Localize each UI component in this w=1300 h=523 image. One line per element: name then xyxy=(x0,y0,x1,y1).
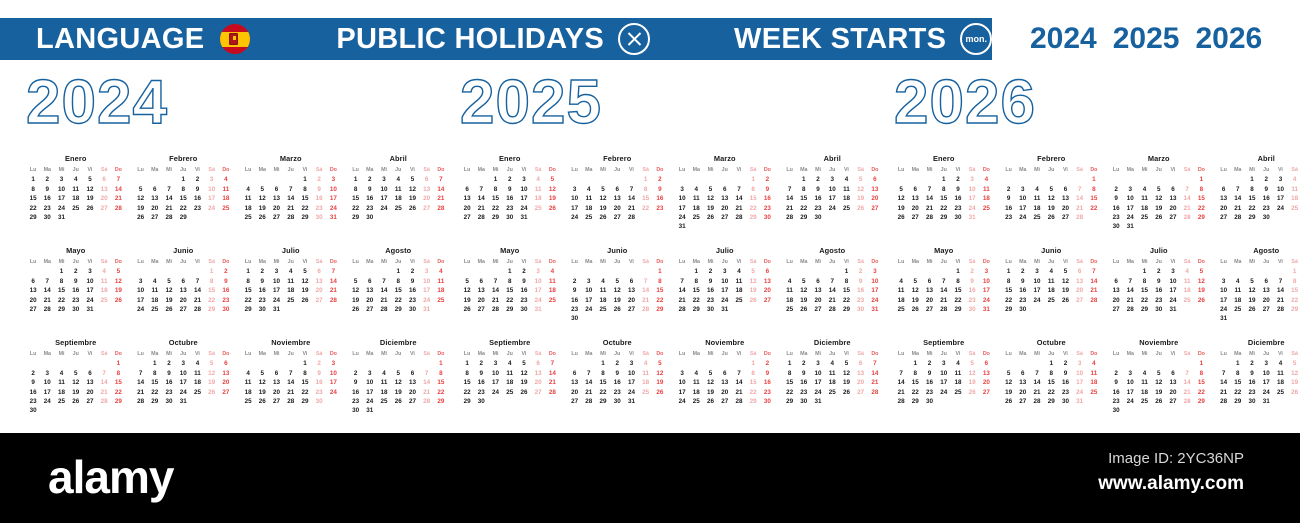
day-cell[interactable]: 11 xyxy=(1180,277,1194,286)
day-cell[interactable]: 4 xyxy=(979,175,993,184)
day-cell[interactable]: 19 xyxy=(1002,388,1016,397)
day-cell[interactable]: 25 xyxy=(689,213,703,222)
day-cell[interactable]: 22 xyxy=(298,204,312,213)
day-cell[interactable]: 2 xyxy=(703,267,717,276)
day-cell[interactable]: 1 xyxy=(349,175,363,184)
day-cell[interactable]: 2 xyxy=(405,267,419,276)
day-cell[interactable]: 18 xyxy=(391,194,405,203)
day-cell[interactable]: 3 xyxy=(868,267,882,276)
day-cell[interactable]: 27 xyxy=(760,296,774,305)
day-cell[interactable]: 29 xyxy=(26,213,40,222)
day-cell[interactable]: 4 xyxy=(639,359,653,368)
day-cell[interactable]: 30 xyxy=(474,397,488,406)
day-cell[interactable]: 8 xyxy=(1002,277,1016,286)
day-cell[interactable]: 20 xyxy=(312,286,326,295)
day-cell[interactable]: 30 xyxy=(1058,397,1072,406)
day-cell[interactable]: 9 xyxy=(1245,369,1259,378)
day-cell[interactable]: 15 xyxy=(241,286,255,295)
day-cell[interactable]: 2 xyxy=(40,175,54,184)
day-cell[interactable]: 14 xyxy=(825,286,839,295)
day-cell[interactable]: 21 xyxy=(97,388,111,397)
day-cell[interactable]: 7 xyxy=(488,277,502,286)
day-cell[interactable]: 20 xyxy=(1259,296,1273,305)
day-cell[interactable]: 19 xyxy=(965,378,979,387)
day-cell[interactable]: 27 xyxy=(568,397,582,406)
day-cell[interactable]: 11 xyxy=(377,378,391,387)
day-cell[interactable]: 27 xyxy=(269,213,283,222)
day-cell[interactable]: 12 xyxy=(517,369,531,378)
day-cell[interactable]: 17 xyxy=(326,378,340,387)
day-cell[interactable]: 7 xyxy=(732,369,746,378)
day-cell[interactable]: 16 xyxy=(1002,204,1016,213)
day-cell[interactable]: 6 xyxy=(405,369,419,378)
day-cell[interactable]: 10 xyxy=(811,369,825,378)
day-cell[interactable]: 23 xyxy=(517,296,531,305)
day-cell[interactable]: 17 xyxy=(269,286,283,295)
day-cell[interactable]: 29 xyxy=(148,397,162,406)
day-cell[interactable]: 1 xyxy=(205,267,219,276)
day-cell[interactable]: 6 xyxy=(624,277,638,286)
day-cell[interactable]: 28 xyxy=(420,397,434,406)
day-cell[interactable]: 5 xyxy=(1288,359,1300,368)
day-cell[interactable]: 30 xyxy=(219,305,233,314)
day-cell[interactable]: 16 xyxy=(349,388,363,397)
day-cell[interactable]: 18 xyxy=(219,194,233,203)
day-cell[interactable]: 12 xyxy=(908,286,922,295)
day-cell[interactable]: 23 xyxy=(653,204,667,213)
day-cell[interactable]: 24 xyxy=(40,397,54,406)
day-cell[interactable]: 13 xyxy=(1217,194,1231,203)
day-cell[interactable]: 5 xyxy=(653,359,667,368)
day-cell[interactable]: 19 xyxy=(1288,378,1300,387)
day-cell[interactable]: 11 xyxy=(1273,369,1287,378)
day-cell[interactable]: 27 xyxy=(979,388,993,397)
day-cell[interactable]: 9 xyxy=(854,277,868,286)
day-cell[interactable]: 1 xyxy=(54,267,68,276)
day-cell[interactable]: 16 xyxy=(653,194,667,203)
day-cell[interactable]: 8 xyxy=(176,185,190,194)
day-cell[interactable]: 5 xyxy=(1245,277,1259,286)
day-cell[interactable]: 5 xyxy=(797,277,811,286)
day-cell[interactable]: 13 xyxy=(269,378,283,387)
day-cell[interactable]: 26 xyxy=(1058,296,1072,305)
day-cell[interactable]: 4 xyxy=(531,175,545,184)
year-option-2024[interactable]: 2024 xyxy=(1030,22,1097,56)
day-cell[interactable]: 29 xyxy=(797,213,811,222)
day-cell[interactable]: 27 xyxy=(868,204,882,213)
day-cell[interactable]: 8 xyxy=(653,277,667,286)
day-cell[interactable]: 6 xyxy=(854,359,868,368)
day-cell[interactable]: 15 xyxy=(54,286,68,295)
day-cell[interactable]: 19 xyxy=(1245,296,1259,305)
day-cell[interactable]: 11 xyxy=(503,369,517,378)
day-cell[interactable]: 30 xyxy=(854,305,868,314)
day-cell[interactable]: 9 xyxy=(811,185,825,194)
day-cell[interactable]: 25 xyxy=(1087,388,1101,397)
day-cell[interactable]: 23 xyxy=(568,305,582,314)
day-cell[interactable]: 26 xyxy=(1002,397,1016,406)
day-cell[interactable]: 20 xyxy=(148,204,162,213)
day-cell[interactable]: 1 xyxy=(434,359,448,368)
close-x-icon[interactable] xyxy=(618,23,650,55)
day-cell[interactable]: 23 xyxy=(26,397,40,406)
day-cell[interactable]: 24 xyxy=(624,388,638,397)
day-cell[interactable]: 11 xyxy=(69,185,83,194)
day-cell[interactable]: 9 xyxy=(1016,277,1030,286)
day-cell[interactable]: 25 xyxy=(531,204,545,213)
day-cell[interactable]: 4 xyxy=(190,359,204,368)
day-cell[interactable]: 30 xyxy=(405,305,419,314)
day-cell[interactable]: 5 xyxy=(391,369,405,378)
day-cell[interactable]: 8 xyxy=(797,185,811,194)
day-cell[interactable]: 22 xyxy=(349,204,363,213)
day-cell[interactable]: 25 xyxy=(582,213,596,222)
day-cell[interactable]: 8 xyxy=(1288,277,1300,286)
day-cell[interactable]: 10 xyxy=(624,369,638,378)
day-cell[interactable]: 29 xyxy=(434,397,448,406)
day-cell[interactable]: 11 xyxy=(434,277,448,286)
day-cell[interactable]: 6 xyxy=(718,369,732,378)
day-cell[interactable]: 6 xyxy=(868,175,882,184)
day-cell[interactable]: 1 xyxy=(460,359,474,368)
day-cell[interactable]: 3 xyxy=(1016,185,1030,194)
day-cell[interactable]: 16 xyxy=(610,378,624,387)
day-cell[interactable]: 12 xyxy=(134,194,148,203)
day-cell[interactable]: 29 xyxy=(298,213,312,222)
day-cell[interactable]: 22 xyxy=(205,296,219,305)
day-cell[interactable]: 11 xyxy=(1030,194,1044,203)
day-cell[interactable]: 18 xyxy=(1087,378,1101,387)
day-cell[interactable]: 21 xyxy=(377,296,391,305)
day-cell[interactable]: 21 xyxy=(1073,204,1087,213)
day-cell[interactable]: 8 xyxy=(26,185,40,194)
day-cell[interactable]: 5 xyxy=(255,369,269,378)
day-cell[interactable]: 22 xyxy=(460,388,474,397)
day-cell[interactable]: 2 xyxy=(760,359,774,368)
day-cell[interactable]: 25 xyxy=(54,397,68,406)
day-cell[interactable]: 24 xyxy=(517,204,531,213)
day-cell[interactable]: 6 xyxy=(1217,185,1231,194)
day-cell[interactable]: 3 xyxy=(965,175,979,184)
day-cell[interactable]: 4 xyxy=(582,185,596,194)
day-cell[interactable]: 22 xyxy=(176,204,190,213)
day-cell[interactable]: 18 xyxy=(377,388,391,397)
day-cell[interactable]: 13 xyxy=(718,378,732,387)
day-cell[interactable]: 31 xyxy=(176,397,190,406)
day-cell[interactable]: 6 xyxy=(760,267,774,276)
day-cell[interactable]: 1 xyxy=(111,359,125,368)
day-cell[interactable]: 30 xyxy=(312,213,326,222)
day-cell[interactable]: 4 xyxy=(951,359,965,368)
day-cell[interactable]: 11 xyxy=(241,194,255,203)
day-cell[interactable]: 11 xyxy=(531,185,545,194)
day-cell[interactable]: 22 xyxy=(488,204,502,213)
day-cell[interactable]: 18 xyxy=(241,204,255,213)
day-cell[interactable]: 11 xyxy=(54,378,68,387)
day-cell[interactable]: 1 xyxy=(241,267,255,276)
day-cell[interactable]: 20 xyxy=(420,194,434,203)
day-cell[interactable]: 4 xyxy=(1137,185,1151,194)
day-cell[interactable]: 11 xyxy=(582,194,596,203)
day-cell[interactable]: 21 xyxy=(284,388,298,397)
day-cell[interactable]: 9 xyxy=(653,185,667,194)
day-cell[interactable]: 14 xyxy=(639,286,653,295)
day-cell[interactable]: 9 xyxy=(760,369,774,378)
day-cell[interactable]: 12 xyxy=(965,369,979,378)
day-cell[interactable]: 30 xyxy=(951,213,965,222)
day-cell[interactable]: 6 xyxy=(474,277,488,286)
day-cell[interactable]: 21 xyxy=(1180,388,1194,397)
day-cell[interactable]: 21 xyxy=(922,204,936,213)
day-cell[interactable]: 19 xyxy=(908,296,922,305)
day-cell[interactable]: 7 xyxy=(162,185,176,194)
day-cell[interactable]: 27 xyxy=(97,204,111,213)
day-cell[interactable]: 20 xyxy=(405,388,419,397)
day-cell[interactable]: 29 xyxy=(54,305,68,314)
day-cell[interactable]: 13 xyxy=(97,185,111,194)
day-cell[interactable]: 18 xyxy=(596,296,610,305)
day-cell[interactable]: 4 xyxy=(1030,185,1044,194)
day-cell[interactable]: 12 xyxy=(1152,194,1166,203)
day-cell[interactable]: 14 xyxy=(732,194,746,203)
day-cell[interactable]: 12 xyxy=(703,378,717,387)
day-cell[interactable]: 11 xyxy=(783,286,797,295)
day-cell[interactable]: 9 xyxy=(1259,185,1273,194)
day-cell[interactable]: 15 xyxy=(1002,286,1016,295)
day-cell[interactable]: 19 xyxy=(111,286,125,295)
day-cell[interactable]: 28 xyxy=(434,204,448,213)
day-cell[interactable]: 12 xyxy=(162,286,176,295)
day-cell[interactable]: 1 xyxy=(839,267,853,276)
day-cell[interactable]: 8 xyxy=(1137,277,1151,286)
day-cell[interactable]: 28 xyxy=(326,296,340,305)
day-cell[interactable]: 12 xyxy=(596,194,610,203)
day-cell[interactable]: 25 xyxy=(732,296,746,305)
day-cell[interactable]: 16 xyxy=(1259,194,1273,203)
day-cell[interactable]: 23 xyxy=(503,204,517,213)
day-cell[interactable]: 20 xyxy=(1217,204,1231,213)
day-cell[interactable]: 10 xyxy=(54,185,68,194)
day-cell[interactable]: 11 xyxy=(97,277,111,286)
day-cell[interactable]: 23 xyxy=(1109,213,1123,222)
day-cell[interactable]: 15 xyxy=(460,378,474,387)
day-cell[interactable]: 23 xyxy=(1058,388,1072,397)
day-cell[interactable]: 14 xyxy=(488,286,502,295)
day-cell[interactable]: 10 xyxy=(517,185,531,194)
day-cell[interactable]: 19 xyxy=(1044,204,1058,213)
day-cell[interactable]: 7 xyxy=(190,277,204,286)
day-cell[interactable]: 30 xyxy=(797,397,811,406)
day-cell[interactable]: 3 xyxy=(1030,267,1044,276)
day-cell[interactable]: 13 xyxy=(1259,286,1273,295)
day-cell[interactable]: 15 xyxy=(908,378,922,387)
day-cell[interactable]: 21 xyxy=(624,204,638,213)
day-cell[interactable]: 22 xyxy=(937,204,951,213)
day-cell[interactable]: 21 xyxy=(1123,296,1137,305)
day-cell[interactable]: 3 xyxy=(937,359,951,368)
day-cell[interactable]: 27 xyxy=(1259,305,1273,314)
day-cell[interactable]: 6 xyxy=(718,185,732,194)
day-cell[interactable]: 6 xyxy=(922,277,936,286)
day-cell[interactable]: 3 xyxy=(269,267,283,276)
day-cell[interactable]: 31 xyxy=(979,305,993,314)
day-cell[interactable]: 19 xyxy=(517,378,531,387)
day-cell[interactable]: 10 xyxy=(176,369,190,378)
day-cell[interactable]: 4 xyxy=(241,369,255,378)
day-cell[interactable]: 11 xyxy=(148,286,162,295)
day-cell[interactable]: 17 xyxy=(624,378,638,387)
day-cell[interactable]: 26 xyxy=(111,296,125,305)
day-cell[interactable]: 11 xyxy=(979,185,993,194)
day-cell[interactable]: 1 xyxy=(746,175,760,184)
day-cell[interactable]: 7 xyxy=(1231,185,1245,194)
day-cell[interactable]: 19 xyxy=(839,378,853,387)
day-cell[interactable]: 4 xyxy=(894,277,908,286)
day-cell[interactable]: 16 xyxy=(517,286,531,295)
day-cell[interactable]: 8 xyxy=(298,369,312,378)
day-cell[interactable]: 16 xyxy=(312,194,326,203)
day-cell[interactable]: 10 xyxy=(420,277,434,286)
day-cell[interactable]: 3 xyxy=(1123,185,1137,194)
day-cell[interactable]: 24 xyxy=(568,213,582,222)
day-cell[interactable]: 9 xyxy=(363,185,377,194)
day-cell[interactable]: 26 xyxy=(298,296,312,305)
day-cell[interactable]: 16 xyxy=(26,388,40,397)
day-cell[interactable]: 16 xyxy=(312,378,326,387)
day-cell[interactable]: 19 xyxy=(162,296,176,305)
day-cell[interactable]: 13 xyxy=(568,378,582,387)
day-cell[interactable]: 2 xyxy=(219,267,233,276)
day-cell[interactable]: 9 xyxy=(517,277,531,286)
day-cell[interactable]: 17 xyxy=(825,194,839,203)
day-cell[interactable]: 4 xyxy=(503,359,517,368)
day-cell[interactable]: 20 xyxy=(83,388,97,397)
day-cell[interactable]: 29 xyxy=(503,305,517,314)
day-cell[interactable]: 11 xyxy=(689,194,703,203)
year-option-2026[interactable]: 2026 xyxy=(1196,22,1263,56)
day-cell[interactable]: 30 xyxy=(162,397,176,406)
day-cell[interactable]: 18 xyxy=(1137,388,1151,397)
day-cell[interactable]: 24 xyxy=(937,388,951,397)
day-cell[interactable]: 4 xyxy=(689,185,703,194)
day-cell[interactable]: 26 xyxy=(545,204,559,213)
day-cell[interactable]: 6 xyxy=(610,185,624,194)
day-cell[interactable]: 26 xyxy=(405,204,419,213)
day-cell[interactable]: 1 xyxy=(391,267,405,276)
day-cell[interactable]: 13 xyxy=(219,369,233,378)
day-cell[interactable]: 3 xyxy=(326,359,340,368)
day-cell[interactable]: 12 xyxy=(83,185,97,194)
day-cell[interactable]: 4 xyxy=(596,277,610,286)
day-cell[interactable]: 23 xyxy=(363,204,377,213)
day-cell[interactable]: 9 xyxy=(922,369,936,378)
day-cell[interactable]: 7 xyxy=(134,369,148,378)
day-cell[interactable]: 24 xyxy=(1073,388,1087,397)
day-cell[interactable]: 17 xyxy=(54,194,68,203)
day-cell[interactable]: 22 xyxy=(746,388,760,397)
day-cell[interactable]: 10 xyxy=(377,185,391,194)
day-cell[interactable]: 17 xyxy=(1016,204,1030,213)
day-cell[interactable]: 16 xyxy=(1058,378,1072,387)
day-cell[interactable]: 27 xyxy=(1217,213,1231,222)
day-cell[interactable]: 2 xyxy=(26,369,40,378)
day-cell[interactable]: 10 xyxy=(675,378,689,387)
day-cell[interactable]: 8 xyxy=(1245,185,1259,194)
day-cell[interactable]: 5 xyxy=(162,277,176,286)
day-cell[interactable]: 18 xyxy=(1030,204,1044,213)
day-cell[interactable]: 9 xyxy=(1058,369,1072,378)
day-cell[interactable]: 10 xyxy=(40,378,54,387)
day-cell[interactable]: 19 xyxy=(1058,286,1072,295)
day-cell[interactable]: 11 xyxy=(190,369,204,378)
day-cell[interactable]: 28 xyxy=(377,305,391,314)
day-cell[interactable]: 20 xyxy=(219,378,233,387)
day-cell[interactable]: 15 xyxy=(26,194,40,203)
day-cell[interactable]: 9 xyxy=(40,185,54,194)
day-cell[interactable]: 9 xyxy=(610,369,624,378)
day-cell[interactable]: 4 xyxy=(434,267,448,276)
day-cell[interactable]: 1 xyxy=(1002,267,1016,276)
day-cell[interactable]: 17 xyxy=(1123,388,1137,397)
day-cell[interactable]: 17 xyxy=(811,378,825,387)
day-cell[interactable]: 3 xyxy=(363,369,377,378)
day-cell[interactable]: 23 xyxy=(965,296,979,305)
day-cell[interactable]: 3 xyxy=(176,359,190,368)
day-cell[interactable]: 11 xyxy=(689,378,703,387)
day-cell[interactable]: 8 xyxy=(783,369,797,378)
day-cell[interactable]: 13 xyxy=(26,286,40,295)
day-cell[interactable]: 11 xyxy=(825,369,839,378)
day-cell[interactable]: 18 xyxy=(97,286,111,295)
day-cell[interactable]: 3 xyxy=(205,175,219,184)
day-cell[interactable]: 25 xyxy=(503,388,517,397)
day-cell[interactable]: 2 xyxy=(951,175,965,184)
day-cell[interactable]: 17 xyxy=(488,378,502,387)
day-cell[interactable]: 26 xyxy=(1288,388,1300,397)
day-cell[interactable]: 7 xyxy=(894,369,908,378)
day-cell[interactable]: 7 xyxy=(1030,369,1044,378)
day-cell[interactable]: 15 xyxy=(1245,194,1259,203)
day-cell[interactable]: 18 xyxy=(1044,286,1058,295)
day-cell[interactable]: 5 xyxy=(1152,185,1166,194)
day-cell[interactable]: 21 xyxy=(1217,388,1231,397)
day-cell[interactable]: 6 xyxy=(26,277,40,286)
day-cell[interactable]: 17 xyxy=(979,286,993,295)
day-cell[interactable]: 13 xyxy=(460,194,474,203)
day-cell[interactable]: 8 xyxy=(1044,369,1058,378)
day-cell[interactable]: 25 xyxy=(241,213,255,222)
day-cell[interactable]: 16 xyxy=(69,286,83,295)
day-cell[interactable]: 23 xyxy=(312,204,326,213)
day-cell[interactable]: 10 xyxy=(979,277,993,286)
day-cell[interactable]: 5 xyxy=(298,267,312,276)
day-cell[interactable]: 10 xyxy=(205,185,219,194)
day-cell[interactable]: 17 xyxy=(1217,296,1231,305)
day-cell[interactable]: 3 xyxy=(1073,359,1087,368)
day-cell[interactable]: 30 xyxy=(811,213,825,222)
day-cell[interactable]: 25 xyxy=(190,388,204,397)
day-cell[interactable]: 4 xyxy=(732,267,746,276)
day-cell[interactable]: 25 xyxy=(951,388,965,397)
day-cell[interactable]: 23 xyxy=(190,204,204,213)
day-cell[interactable]: 21 xyxy=(40,296,54,305)
day-cell[interactable]: 19 xyxy=(610,296,624,305)
day-cell[interactable]: 20 xyxy=(1073,286,1087,295)
day-cell[interactable]: 25 xyxy=(1044,296,1058,305)
day-cell[interactable]: 2 xyxy=(349,369,363,378)
day-cell[interactable]: 15 xyxy=(783,378,797,387)
day-cell[interactable]: 7 xyxy=(326,267,340,276)
